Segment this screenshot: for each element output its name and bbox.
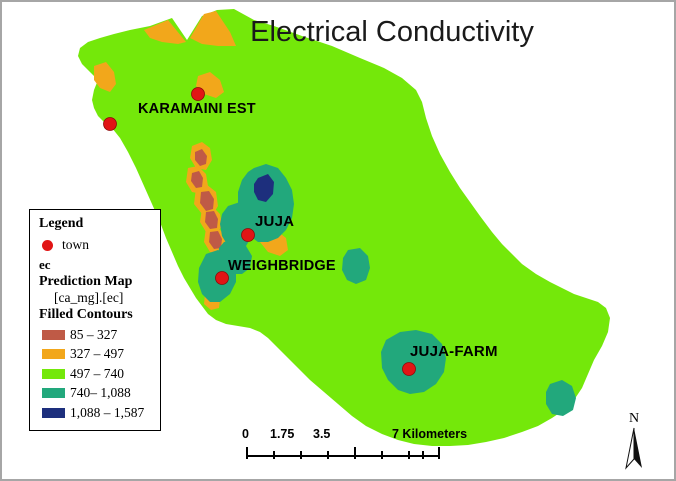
legend-class-label: 85 – 327 bbox=[70, 327, 117, 343]
town-point-icon bbox=[42, 240, 53, 251]
town-point-west bbox=[104, 118, 117, 131]
town-point-juja bbox=[242, 229, 255, 242]
legend-swatch-740-1088 bbox=[42, 388, 65, 398]
legend-row-town: town bbox=[39, 236, 154, 254]
legend-box: Legend town ec Prediction Map [ca_mg].[e… bbox=[29, 209, 161, 431]
north-arrow-icon bbox=[617, 426, 651, 470]
scale-tick bbox=[354, 447, 356, 459]
legend-title: Legend bbox=[39, 216, 154, 232]
scale-bar: 0 1.75 3.5 7 Kilometers bbox=[242, 427, 474, 459]
town-point-jujafarm bbox=[403, 363, 416, 376]
legend-class-label: 1,088 – 1,587 bbox=[70, 405, 144, 421]
town-point-karamaini bbox=[192, 88, 205, 101]
north-arrow-label: N bbox=[617, 412, 651, 426]
legend-class-row: 85 – 327 bbox=[38, 325, 154, 345]
town-point-weighbridge bbox=[216, 272, 229, 285]
scale-tick bbox=[246, 447, 248, 459]
legend-class-label: 740– 1,088 bbox=[70, 385, 131, 401]
legend-contours-heading: Filled Contours bbox=[39, 307, 154, 323]
scale-tick bbox=[327, 451, 329, 459]
legend-class-row: 740– 1,088 bbox=[38, 384, 154, 404]
scale-tick bbox=[273, 451, 275, 459]
legend-swatch-1088-1587 bbox=[42, 408, 65, 418]
scale-tick bbox=[438, 447, 440, 459]
legend-subtitle: Prediction Map bbox=[39, 274, 154, 290]
legend-class-row: 327 – 497 bbox=[38, 345, 154, 365]
map-figure: Electrical Conductivity KARAMAINI EST JU… bbox=[0, 0, 676, 481]
scale-bar-labels: 0 1.75 3.5 7 Kilometers bbox=[242, 427, 474, 443]
town-label-juja-farm: JUJA-FARM bbox=[410, 343, 498, 360]
legend-variable: ec bbox=[39, 257, 154, 273]
north-arrow: N bbox=[617, 412, 651, 474]
scale-tick bbox=[408, 451, 410, 459]
town-label-karamaini-est: KARAMAINI EST bbox=[138, 101, 256, 117]
scale-tick bbox=[381, 451, 383, 459]
town-label-weighbridge: WEIGHBRIDGE bbox=[228, 258, 336, 274]
legend-class-label: 497 – 740 bbox=[70, 366, 124, 382]
scale-tick-label-0: 0 bbox=[242, 427, 249, 441]
legend-town-label: town bbox=[62, 237, 89, 253]
legend-class-row: 1,088 – 1,587 bbox=[38, 403, 154, 423]
map-title: Electrical Conductivity bbox=[227, 16, 557, 49]
scale-tick-label-1_75: 1.75 bbox=[270, 427, 294, 441]
scale-tick-label-7km: 7 Kilometers bbox=[392, 427, 467, 441]
town-label-juja: JUJA bbox=[255, 213, 294, 230]
scale-tick bbox=[300, 451, 302, 459]
scale-tick-label-3_5: 3.5 bbox=[313, 427, 330, 441]
legend-swatch-497-740 bbox=[42, 369, 65, 379]
scale-bar-ticks bbox=[242, 446, 474, 459]
legend-swatch-85-327 bbox=[42, 330, 65, 340]
legend-swatch-327-497 bbox=[42, 349, 65, 359]
legend-class-label: 327 – 497 bbox=[70, 346, 124, 362]
legend-class-row: 497 – 740 bbox=[38, 364, 154, 384]
legend-field-name: [ca_mg].[ec] bbox=[54, 290, 154, 306]
scale-bar-axis bbox=[246, 455, 439, 457]
scale-tick bbox=[422, 451, 424, 459]
